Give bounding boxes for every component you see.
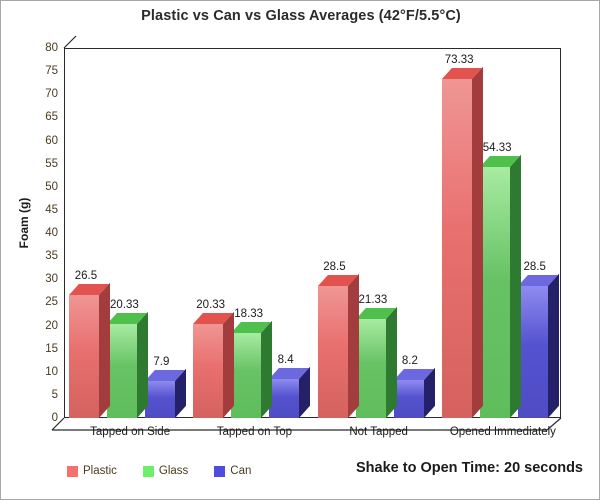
bar-value-label: 7.9 — [153, 356, 169, 368]
bar-front-face — [356, 319, 386, 418]
bar-value-label: 54.33 — [483, 142, 512, 154]
bar-front-face — [145, 381, 175, 418]
y-axis-tick-label: 25 — [34, 296, 58, 308]
bar-can-4: 28.5 — [518, 286, 548, 418]
bar-value-label: 8.4 — [278, 354, 294, 366]
y-axis-tick-label: 40 — [34, 227, 58, 239]
bar-glass-2: 18.33 — [231, 333, 261, 418]
bar-side-face — [510, 155, 521, 418]
bar-front-face — [518, 286, 548, 418]
bar-front-face — [442, 79, 472, 418]
bar-group: 26.520.337.9 — [69, 48, 175, 418]
y-axis-tick-label: 50 — [34, 181, 58, 193]
chart-container: Plastic vs Can vs Glass Averages (42°F/5… — [0, 0, 600, 500]
x-axis-label-3: Not Tapped — [349, 426, 408, 438]
bar-front-face — [231, 333, 261, 418]
y-axis-title: Foam (g) — [17, 178, 31, 268]
x-axis-label-1: Tapped on Side — [90, 426, 170, 438]
y-axis-tick-label: 20 — [34, 320, 58, 332]
bar-front-face — [480, 167, 510, 418]
legend-label: Glass — [159, 465, 188, 477]
bar-glass-4: 54.33 — [480, 167, 510, 418]
bar-front-face — [69, 295, 99, 418]
y-axis-tick-label: 15 — [34, 343, 58, 355]
plot-area: 80757065605550454035302520151050 26.520.… — [64, 48, 561, 418]
bar-side-face — [99, 283, 110, 418]
bar-group: 20.3318.338.4 — [193, 48, 299, 418]
chart-title: Plastic vs Can vs Glass Averages (42°F/5… — [1, 8, 600, 24]
bar-value-label: 28.5 — [523, 261, 545, 273]
y-axis-tick-label: 70 — [34, 88, 58, 100]
bar-value-label: 20.33 — [110, 299, 139, 311]
y-axis-tick-label: 60 — [34, 135, 58, 147]
bar-value-label: 18.33 — [234, 308, 263, 320]
bar-front-face — [107, 324, 137, 418]
legend-swatch-icon — [143, 466, 154, 477]
bar-front-face — [318, 286, 348, 418]
y-axis-tick-label: 5 — [34, 389, 58, 401]
legend-item-plastic[interactable]: Plastic — [67, 465, 117, 477]
bar-group: 73.3354.3328.5 — [442, 48, 548, 418]
y-axis-tick-label: 45 — [34, 204, 58, 216]
bar-plastic-4: 73.33 — [442, 79, 472, 418]
bar-side-face — [386, 307, 397, 418]
x-axis-label-2: Tapped on Top — [217, 426, 292, 438]
bar-value-label: 26.5 — [75, 270, 97, 282]
bar-side-face — [137, 312, 148, 418]
bar-front-face — [193, 324, 223, 418]
legend-item-glass[interactable]: Glass — [143, 465, 188, 477]
bar-plastic-3: 28.5 — [318, 286, 348, 418]
y-axis-tick-label: 80 — [34, 42, 58, 54]
bar-glass-1: 20.33 — [107, 324, 137, 418]
bar-front-face — [269, 379, 299, 418]
bar-side-face — [261, 321, 272, 418]
bar-side-face — [348, 274, 359, 418]
y-axis-tick-label: 35 — [34, 250, 58, 262]
y-axis-tick-label: 75 — [34, 65, 58, 77]
bar-glass-3: 21.33 — [356, 319, 386, 418]
annotation-note: Shake to Open Time: 20 seconds — [356, 460, 583, 476]
bar-front-face — [394, 380, 424, 418]
legend-swatch-icon — [67, 466, 78, 477]
bar-side-face — [223, 312, 234, 418]
legend-swatch-icon — [214, 466, 225, 477]
y-axis-tick-label: 0 — [34, 412, 58, 424]
chart-legend: PlasticGlassCan — [67, 465, 251, 477]
bar-value-label: 20.33 — [196, 299, 225, 311]
bar-plastic-1: 26.5 — [69, 295, 99, 418]
legend-label: Can — [230, 465, 251, 477]
bar-can-2: 8.4 — [269, 379, 299, 418]
bar-side-face — [548, 274, 559, 418]
x-axis-label-4: Opened Immediately — [450, 426, 556, 438]
y-axis-tick-label: 30 — [34, 273, 58, 285]
legend-item-can[interactable]: Can — [214, 465, 251, 477]
bar-value-label: 28.5 — [323, 261, 345, 273]
bar-can-3: 8.2 — [394, 380, 424, 418]
bar-can-1: 7.9 — [145, 381, 175, 418]
y-axis-tick-label: 55 — [34, 158, 58, 170]
bar-side-face — [472, 67, 483, 418]
bar-plastic-2: 20.33 — [193, 324, 223, 418]
bar-group: 28.521.338.2 — [318, 48, 424, 418]
y-axis-tick-label: 10 — [34, 366, 58, 378]
y-axis-tick-label: 65 — [34, 111, 58, 123]
bar-value-label: 8.2 — [402, 355, 418, 367]
bar-value-label: 21.33 — [359, 294, 388, 306]
legend-label: Plastic — [83, 465, 117, 477]
bar-value-label: 73.33 — [445, 54, 474, 66]
